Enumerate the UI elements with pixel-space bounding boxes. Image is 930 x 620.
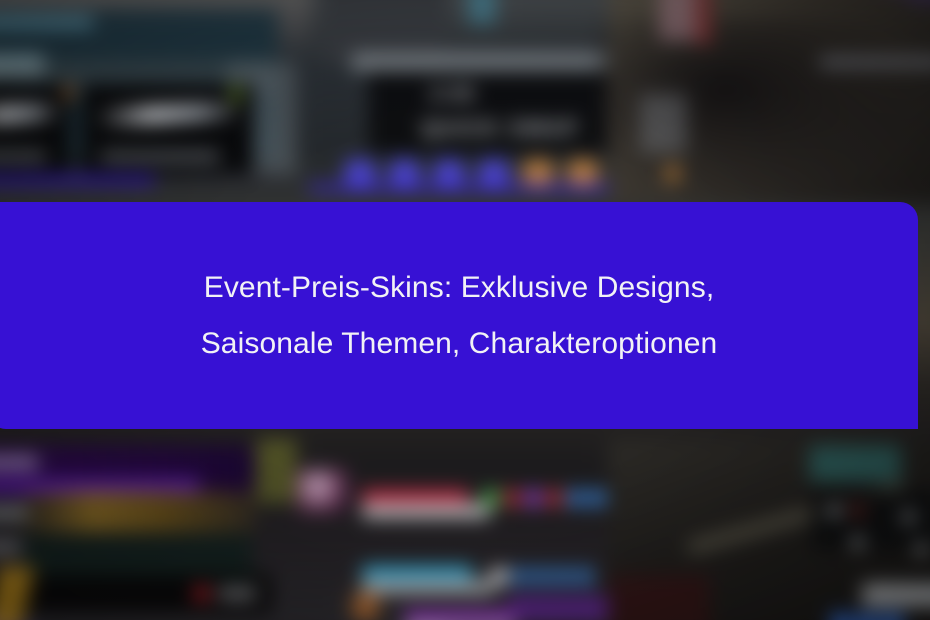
ability-icon-blue xyxy=(568,490,584,506)
weapon-skin-card-2 xyxy=(82,83,254,174)
progress-bar-fill xyxy=(0,176,154,183)
health-bar-white xyxy=(362,505,489,518)
stats-gold-row xyxy=(21,490,256,532)
ability-icon-green xyxy=(483,490,499,506)
ability-icon-blue xyxy=(555,569,571,585)
panel-dot-icon xyxy=(903,511,915,523)
environment-maroon-block xyxy=(608,575,710,620)
scoreboard-teal-accent xyxy=(468,0,496,24)
ability-icon-blue xyxy=(589,490,605,506)
panel-dot-icon xyxy=(829,505,841,517)
match-timer: 2:09 xyxy=(430,83,475,106)
action-button-label-placeholder xyxy=(218,588,256,600)
player-hud xyxy=(280,444,630,620)
tile-icon xyxy=(831,613,852,620)
stats-dark-box xyxy=(23,533,252,575)
environment-ember xyxy=(665,164,680,183)
roster-slot-tan xyxy=(523,159,553,187)
panel-dot-icon xyxy=(852,537,864,549)
ability-icon-blue xyxy=(576,569,592,585)
environment-red-block xyxy=(695,0,712,45)
tile-icon xyxy=(856,613,877,620)
roster-slot-blue xyxy=(479,159,509,187)
health-bar-purple xyxy=(405,611,515,620)
ability-icon-white xyxy=(492,569,508,585)
roster-slot-blue xyxy=(390,159,420,187)
roster-slot-tan xyxy=(568,159,598,187)
panel-dot-icon xyxy=(916,543,928,555)
stats-row-label-2 xyxy=(0,541,21,553)
page-title-line-2: Saisonale Themen, Charakteroptionen xyxy=(201,316,718,372)
roster-slot-blue xyxy=(434,159,464,187)
game-mode-label: QUICK SWAP xyxy=(422,117,580,141)
ability-icon-row-1 xyxy=(483,490,626,506)
roster-slot-blue xyxy=(345,159,375,187)
environment-ember-2 xyxy=(349,581,381,620)
weapon-silhouette-icon xyxy=(0,103,60,125)
panel-title-placeholder xyxy=(0,17,93,27)
health-bar-cyan xyxy=(362,567,472,580)
title-banner-card: Event-Preis-Skins: Exklusive Designs, Sa… xyxy=(0,202,918,429)
ability-icon-purple xyxy=(525,490,541,506)
weapon-name-placeholder xyxy=(0,152,46,160)
panel-red-marker-icon xyxy=(854,505,861,517)
ability-icon-red xyxy=(504,490,520,506)
ability-icon-blue xyxy=(513,569,529,585)
ability-icon-row-2 xyxy=(492,569,593,585)
page-title: Event-Preis-Skins: Exklusive Designs, Sa… xyxy=(201,260,718,371)
character-portrait xyxy=(296,469,349,514)
ability-icon-red xyxy=(547,490,563,506)
ability-icon-blue xyxy=(534,569,550,585)
tile-icon xyxy=(882,613,903,620)
environment-slab xyxy=(640,94,687,153)
health-bar-white-2 xyxy=(362,581,493,594)
hud-text-placeholder xyxy=(820,58,930,66)
record-indicator-icon xyxy=(194,586,210,602)
stats-panel-title-placeholder xyxy=(0,456,38,469)
stats-row-label xyxy=(0,507,27,519)
bottom-right-tile-row xyxy=(831,613,929,620)
page-title-line-1: Event-Preis-Skins: Exklusive Designs, xyxy=(201,260,718,316)
weapon-silhouette-icon xyxy=(97,102,239,126)
environment-teal-glass xyxy=(810,446,901,482)
weapon-skin-card-1 xyxy=(0,83,70,174)
rarity-amber-marker xyxy=(63,85,73,100)
screenshot-canvas: 2:09 QUICK SWAP xyxy=(0,0,930,620)
weapon-name-placeholder xyxy=(100,152,219,160)
rarity-green-marker xyxy=(232,85,240,102)
title-banner-content: Event-Preis-Skins: Exklusive Designs, Sa… xyxy=(0,202,918,429)
health-bar-red xyxy=(362,490,468,503)
environment-white-slab xyxy=(863,583,930,606)
